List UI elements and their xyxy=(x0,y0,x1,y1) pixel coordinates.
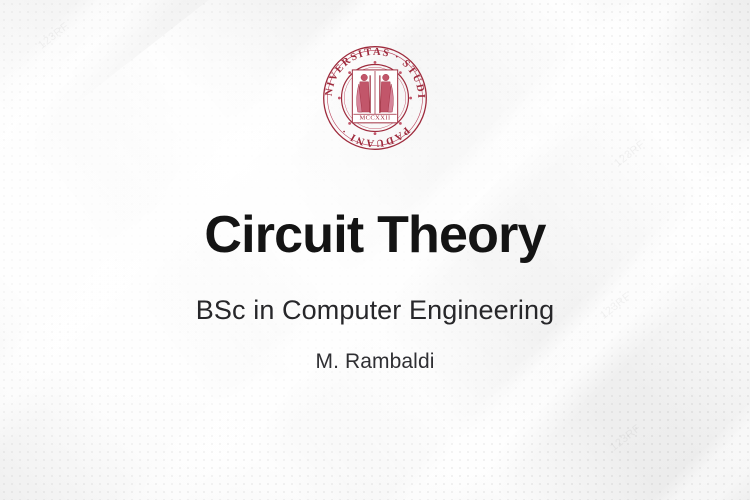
author-name: M. Rambaldi xyxy=(316,350,435,374)
svg-text:PADUANI ·: PADUANI · xyxy=(338,124,411,148)
seal-date: MCCXXII xyxy=(359,115,390,122)
slide-content: UNIVERSITAS · STUDII PADUANI · xyxy=(0,0,750,500)
title-slide: 123RF 123RF 123RF 123RF UNIVERSITAS · ST… xyxy=(0,0,750,500)
course-degree: BSc in Computer Engineering xyxy=(196,295,554,326)
page-title: Circuit Theory xyxy=(204,208,545,263)
university-seal-logo: UNIVERSITAS · STUDII PADUANI · xyxy=(321,44,429,152)
